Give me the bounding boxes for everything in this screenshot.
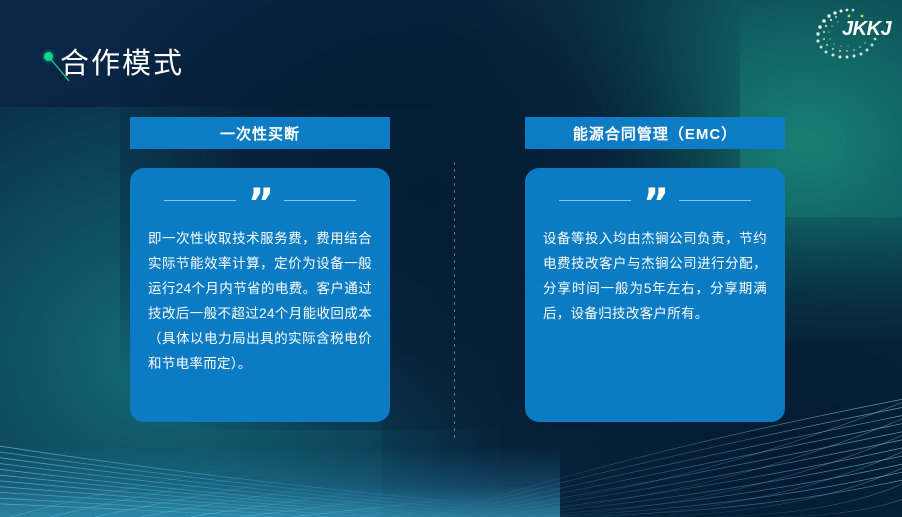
card-body-right: ” 设备等投入均由杰锏公司负责，节约电费技改客户与杰锏公司进行分配，分享时间一般… [525, 168, 785, 422]
card-text-right: 设备等投入均由杰锏公司负责，节约电费技改客户与杰锏公司进行分配，分享时间一般为5… [525, 212, 785, 326]
page-title: 合作模式 [60, 40, 184, 82]
column-one-time-buyout: 一次性买断 ” 即一次性收取技术服务费，费用结合实际节能效率计算，定价为设备一般… [130, 117, 390, 422]
quote-line-right [284, 200, 356, 201]
column-divider [454, 162, 455, 440]
card-body-left: ” 即一次性收取技术服务费，费用结合实际节能效率计算，定价为设备一般运行24个月… [130, 168, 390, 422]
card-header-left: 一次性买断 [130, 117, 390, 149]
card-header-right: 能源合同管理（EMC） [525, 117, 785, 149]
quote-line-left [559, 200, 631, 201]
column-emc: 能源合同管理（EMC） ” 设备等投入均由杰锏公司负责，节约电费技改客户与杰锏公… [525, 117, 785, 422]
card-text-left: 即一次性收取技术服务费，费用结合实际节能效率计算，定价为设备一般运行24个月内节… [130, 212, 390, 376]
logo-wordmark: JKKJ [842, 18, 891, 41]
quote-decoration-right: ” [525, 168, 785, 212]
quote-line-left [164, 200, 236, 201]
quote-line-right [679, 200, 751, 201]
page-title-block: 合作模式 [40, 40, 380, 90]
company-logo: JKKJ [808, 4, 892, 60]
slide-canvas: 合作模式 [0, 0, 902, 517]
title-bullet-dot [44, 52, 53, 61]
quote-decoration-left: ” [130, 168, 390, 212]
